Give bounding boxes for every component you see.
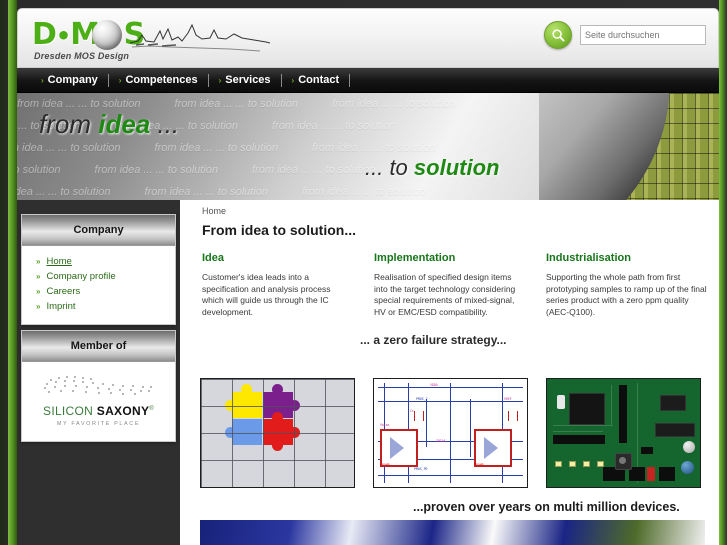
- double-chevron-icon: »: [36, 302, 40, 311]
- logo-subtitle: Dresden MOS Design: [34, 51, 129, 61]
- ghost-line: from idea ... ... to solution: [302, 186, 426, 198]
- pcb-push-button: [615, 453, 632, 470]
- proven-tagline: ...proven over years on multi million de…: [413, 500, 680, 514]
- pcb-qfp-chip: [569, 393, 605, 425]
- column-body: Supporting the whole path from first pro…: [546, 272, 712, 318]
- logo-letter-d: D: [32, 17, 56, 52]
- magnifier-glyph: [551, 28, 566, 43]
- column-industrialisation: Industrialisation Supporting the whole p…: [546, 252, 712, 318]
- pcb-pin-header: [641, 447, 653, 454]
- sidebar-box-member-of: Member of: [21, 330, 176, 442]
- opamp-symbol: [474, 429, 512, 467]
- double-chevron-icon: »: [36, 287, 40, 296]
- sidebar-company-title: Company: [22, 215, 175, 246]
- pcb-capacitor: [683, 441, 695, 453]
- main-panel: Home From idea to solution... Idea Custo…: [180, 200, 719, 545]
- chevron-right-icon: ›: [219, 76, 222, 85]
- hero-banner: from idea ... ... to solutionfrom idea .…: [17, 93, 719, 200]
- column-body: Realisation of specified design items in…: [374, 272, 526, 318]
- sidebar-item-label: Careers: [46, 286, 80, 297]
- page-title: From idea to solution...: [202, 222, 356, 238]
- nav-item-contact[interactable]: › Contact: [282, 68, 350, 92]
- pcb-trace: [611, 385, 612, 425]
- chevron-right-icon: ›: [119, 76, 122, 85]
- sidebar-item-company-profile[interactable]: » Company profile: [22, 269, 175, 284]
- ghost-line: from idea ... ... to solution: [272, 120, 396, 132]
- pcb-connector: [557, 395, 565, 409]
- chevron-right-icon: ›: [41, 76, 44, 85]
- schematic-label: Vbias: [380, 423, 390, 427]
- nav-item-company[interactable]: › Company: [31, 68, 108, 92]
- pcb-dip-chip: [655, 423, 695, 437]
- ghost-line: from idea ... ... to solution: [252, 164, 376, 176]
- banner-text-accent: solution: [414, 155, 500, 180]
- double-chevron-icon: »: [36, 272, 40, 281]
- content-area: Company » Home » Company profile » Caree…: [17, 200, 719, 545]
- pcb-capacitor: [681, 461, 694, 474]
- nav-item-competences[interactable]: › Competences: [109, 68, 208, 92]
- column-implementation: Implementation Realisation of specified …: [374, 252, 526, 318]
- logo-word-silicon: SILICON: [43, 404, 97, 418]
- ghost-line: from idea ... ... to solution: [95, 164, 219, 176]
- schematic-label: Cc: [410, 409, 414, 413]
- column-heading: Implementation: [374, 252, 526, 264]
- opamp-symbol: [380, 429, 418, 467]
- silicon-saxony-logo[interactable]: SILICON SAXONY® MY FAVORITE PLACE: [22, 362, 175, 441]
- schematic-label: OPAMP: [380, 463, 390, 467]
- logo-sphere-icon: [92, 20, 122, 50]
- component-symbol: [508, 411, 518, 421]
- main-navigation: › Company › Competences › Services › Con…: [17, 68, 719, 93]
- silicon-saxony-wordmark: SILICON SAXONY®: [28, 404, 169, 418]
- silicon-saxony-tagline: MY FAVORITE PLACE: [28, 421, 169, 427]
- strategy-tagline: ... a zero failure strategy...: [360, 333, 507, 347]
- banner-text-plain: ... to: [365, 155, 414, 180]
- column-body: Customer's idea leads into a specificati…: [202, 272, 354, 318]
- banner-headline-2: ... to solution: [365, 155, 499, 181]
- pcb-trace: [553, 431, 603, 432]
- pcb-pin-header: [659, 467, 675, 481]
- site-header: D•MOS Dresden MOS Design: [17, 8, 719, 68]
- nav-label: Competences: [125, 74, 197, 86]
- partial-banner-image: [200, 520, 705, 545]
- banner-headline-1: from idea ...: [39, 109, 179, 140]
- pcb-trace: [553, 425, 613, 426]
- column-heading: Idea: [202, 252, 354, 264]
- schematic-label: OPAMP: [474, 463, 484, 467]
- nav-label: Company: [48, 74, 98, 86]
- ghost-line: from idea ... ... to solution: [17, 164, 61, 176]
- sidebar-member-title: Member of: [22, 331, 175, 362]
- pcb-soic-chip: [660, 395, 686, 411]
- ghost-line: from idea ... ... to solution: [332, 98, 456, 110]
- right-green-accent-bar: [719, 0, 727, 545]
- pcb-jumper-red: [647, 467, 655, 481]
- puzzle-base: [201, 379, 354, 487]
- ghost-line: from idea ... ... to solution: [17, 142, 121, 154]
- ghost-line: from idea ... ... to solution: [155, 142, 279, 154]
- nav-label: Services: [225, 74, 270, 86]
- search-area: [544, 21, 706, 49]
- registered-mark-icon: ®: [149, 406, 154, 412]
- search-input[interactable]: [580, 25, 706, 45]
- double-chevron-icon: »: [36, 257, 40, 266]
- left-green-accent-bar: [8, 0, 17, 545]
- chevron-right-icon: ›: [292, 76, 295, 85]
- schematic-canvas: VDDA PMOS_2 Cc IBIAS Vbias OPAMP OPAMP P…: [374, 379, 527, 487]
- logo-word-saxony: SAXONY: [97, 404, 149, 418]
- nav-label: Contact: [298, 74, 339, 86]
- schematic-label: VREF: [504, 397, 512, 401]
- ghost-line: from idea ... ... to solution: [17, 186, 111, 198]
- sidebar-item-imprint[interactable]: » Imprint: [22, 299, 175, 314]
- column-idea: Idea Customer's idea leads into a specif…: [202, 252, 354, 318]
- schematic-wire: [450, 383, 451, 483]
- banner-text-tail: ...: [150, 109, 179, 139]
- column-heading: Industrialisation: [546, 252, 712, 264]
- logo-dot-1: •: [56, 22, 70, 50]
- pcb-led: [569, 461, 576, 467]
- sidebar-item-home[interactable]: » Home: [22, 254, 175, 269]
- pcb-led: [555, 461, 562, 467]
- pcb-led: [597, 461, 604, 467]
- ghost-line: from idea ... ... to solution: [312, 142, 436, 154]
- image-row: VDDA PMOS_2 Cc IBIAS Vbias OPAMP OPAMP P…: [200, 378, 705, 488]
- sidebar-box-company: Company » Home » Company profile » Caree…: [21, 214, 176, 325]
- schematic-label: PMOS_2: [416, 397, 428, 401]
- page-root: D•MOS Dresden MOS Design › Company: [0, 0, 727, 545]
- circuit-schematic-image: VDDA PMOS_2 Cc IBIAS Vbias OPAMP OPAMP P…: [373, 378, 528, 488]
- nav-divider: [349, 74, 350, 87]
- schematic-wire: [470, 399, 471, 457]
- schematic-label: VDDA: [430, 383, 438, 387]
- logo-wordmark: D•MOS: [32, 17, 144, 52]
- ghost-line: from idea ... ... to solution: [175, 98, 299, 110]
- sidebar-company-list: » Home » Company profile » Careers » Imp…: [22, 246, 175, 324]
- sidebar-item-label: Company profile: [46, 271, 115, 282]
- sidebar-item-careers[interactable]: » Careers: [22, 284, 175, 299]
- pcb-substrate: [547, 379, 700, 487]
- breadcrumb[interactable]: Home: [202, 206, 226, 216]
- silicon-saxony-dots-icon: [28, 374, 169, 400]
- puzzle-grid-lines: [201, 379, 354, 487]
- schematic-wire: [426, 399, 427, 447]
- component-symbol: [414, 411, 424, 421]
- sidebar-item-label: Home: [46, 256, 71, 267]
- ghost-line: from idea ... ... to solution: [145, 186, 269, 198]
- banner-text-accent: idea: [98, 109, 150, 139]
- dresden-skyline-icon: [130, 21, 270, 53]
- search-icon[interactable]: [544, 21, 572, 49]
- pcb-led: [583, 461, 590, 467]
- banner-text-plain: from: [39, 109, 98, 139]
- puzzle-pieces-image: [200, 378, 355, 488]
- silicon-wafer-image: [539, 93, 719, 200]
- schematic-label: PMOS_PD: [414, 467, 427, 471]
- pcb-pin-header: [619, 385, 627, 443]
- pcb-pin-header: [553, 435, 605, 444]
- pcb-board-photo: [546, 378, 701, 488]
- nav-item-services[interactable]: › Services: [209, 68, 281, 92]
- schematic-label: IBIAS: [436, 439, 446, 443]
- sidebar-item-label: Imprint: [46, 301, 75, 312]
